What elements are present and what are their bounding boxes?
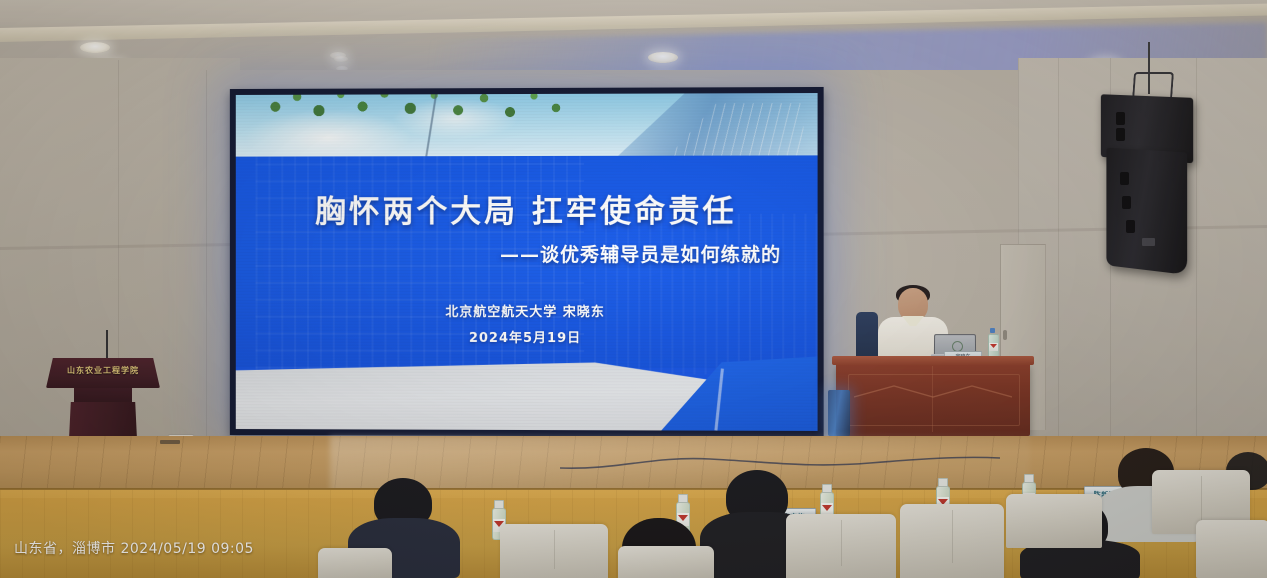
slide-title: 胸怀两个大局 扛牢使命责任 — [236, 186, 818, 232]
seat-seam — [841, 520, 842, 566]
bottle-cap — [678, 494, 688, 503]
seat-seam — [554, 530, 555, 569]
speaker-port-icon — [1126, 220, 1135, 233]
speaker-port-icon — [1116, 128, 1125, 141]
water-bottle-icon — [988, 328, 997, 358]
seat-seam — [952, 510, 953, 563]
downlight-icon — [648, 52, 678, 63]
microphone-icon — [106, 330, 108, 360]
banner-tree-leaves — [246, 93, 574, 147]
floor-outlet-cover — [160, 440, 180, 444]
bottle-cap — [938, 478, 948, 487]
stage-cable — [560, 452, 1000, 472]
lecture-hall-photo: 胸怀两个大局 扛牢使命责任 ——谈优秀辅导员是如何练就的 北京航空航天大学 宋晓… — [0, 0, 1267, 578]
speaker-brand-badge — [1142, 238, 1155, 246]
wall-panel-seam — [1196, 58, 1197, 458]
stage-floor-light — [828, 390, 850, 436]
camera-timestamp-watermark: 山东省，淄博市 2024/05/19 09:05 — [14, 538, 254, 558]
desk-surface — [832, 356, 1034, 365]
door-handle-icon[interactable] — [1003, 330, 1007, 340]
downlight-icon — [80, 42, 110, 53]
auditorium-seat — [900, 504, 1004, 578]
slide-subtitle: ——谈优秀辅导员是如何练就的 — [236, 240, 818, 267]
auditorium-seat — [500, 524, 608, 578]
slide-photo-banner — [236, 93, 818, 157]
bottle-cap — [1024, 474, 1034, 483]
bottle-cap — [494, 500, 504, 509]
bottle-body — [988, 334, 999, 358]
speaker-port-icon — [1120, 172, 1129, 185]
speaker-cabinet-icon — [1106, 148, 1187, 275]
lectern-institution-name: 山东农业工程学院 — [46, 365, 160, 376]
auditorium-seat — [318, 548, 392, 578]
wall-panel-seam — [1058, 58, 1059, 458]
auditorium-seat — [786, 514, 896, 578]
wall-panel-seam — [206, 70, 207, 450]
speaker-port-icon — [1122, 196, 1131, 209]
led-screen-frame: 胸怀两个大局 扛牢使命责任 ——谈优秀辅导员是如何练就的 北京航空航天大学 宋晓… — [230, 87, 824, 437]
slide-bg-building-texture — [594, 214, 818, 375]
auditorium-seat — [618, 546, 714, 578]
presenter-desk — [836, 362, 1030, 436]
lectern-column — [74, 388, 132, 402]
bottle-cap — [990, 328, 995, 333]
downlight-icon — [334, 56, 348, 62]
slide-author: 北京航空航天大学 宋晓东 — [236, 301, 818, 321]
desk-front-panel — [848, 374, 1020, 426]
auditorium-seat — [1006, 494, 1102, 548]
bottle-cap — [822, 484, 832, 493]
auditorium-seat — [1196, 520, 1267, 578]
slide-date: 2024年5月19日 — [236, 327, 818, 347]
presentation-slide[interactable]: 胸怀两个大局 扛牢使命责任 ——谈优秀辅导员是如何练就的 北京航空航天大学 宋晓… — [236, 93, 818, 431]
desk-chevron-ornament — [854, 384, 1012, 400]
speaker-port-icon — [1116, 112, 1125, 125]
seat-seam — [1201, 476, 1202, 521]
